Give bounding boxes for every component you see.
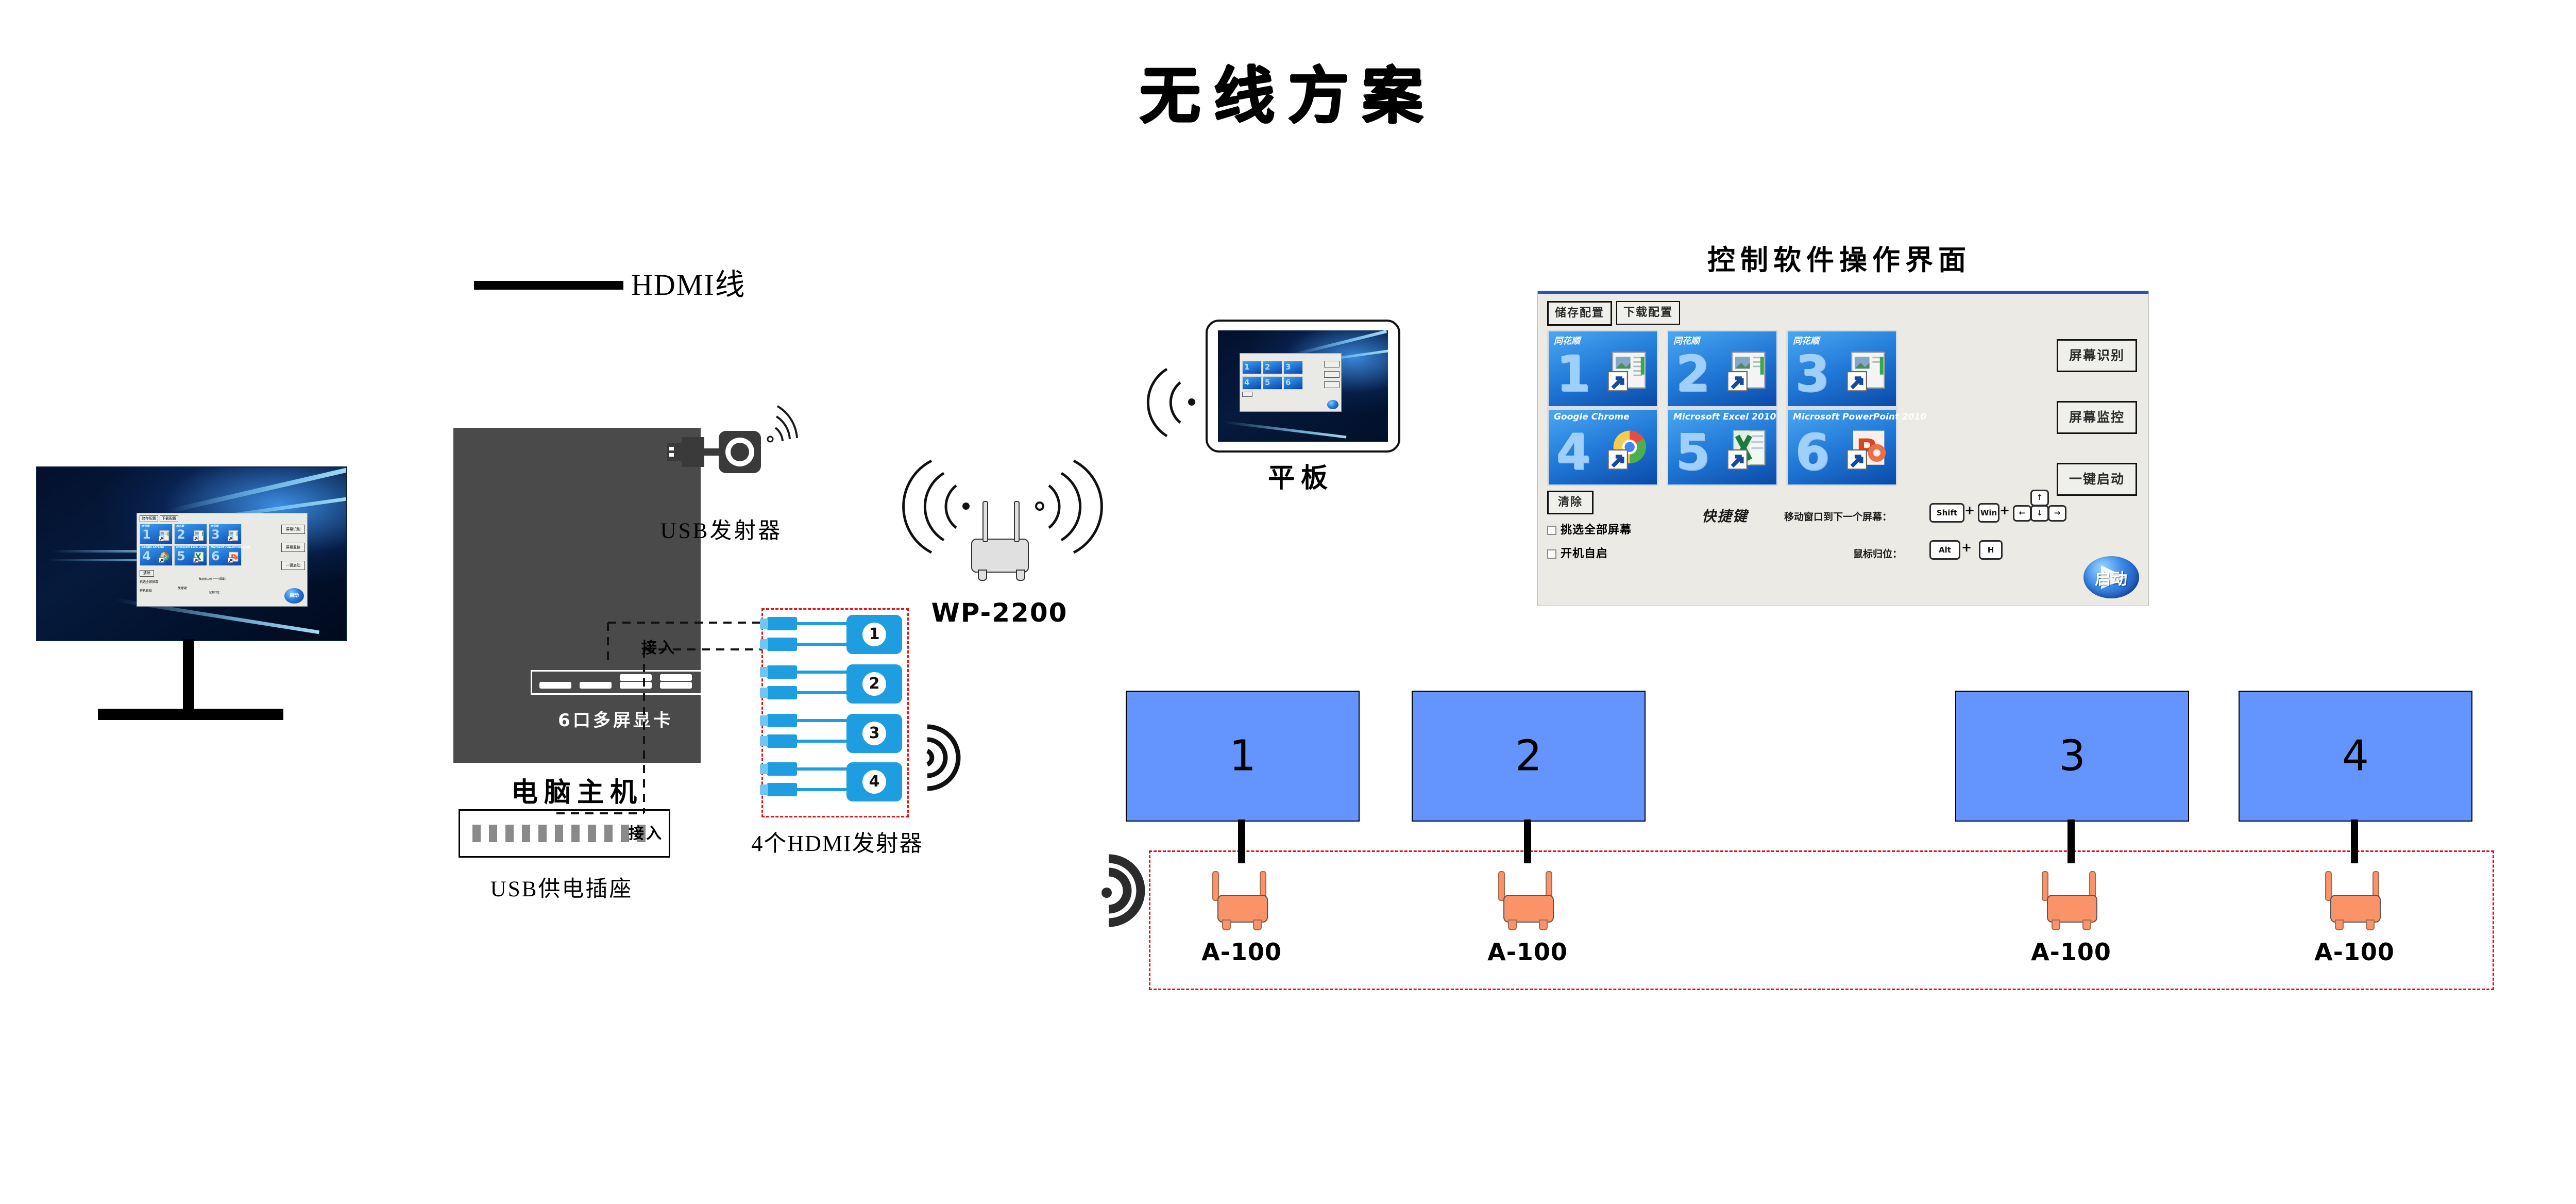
hdmi-transmitter-4: 4 bbox=[846, 762, 902, 801]
hdmi-transmitter-number: 4 bbox=[862, 770, 886, 794]
router-antenna-left bbox=[982, 501, 988, 542]
start-button[interactable]: 启动 bbox=[2083, 556, 2139, 598]
document-shortcut-icon bbox=[157, 529, 171, 542]
tablet-device: 1 2 3 4 5 6 bbox=[1206, 320, 1400, 453]
hdmi-cable-3 bbox=[2067, 820, 2075, 863]
mini-tile-number: 3 bbox=[211, 528, 220, 541]
mini-tile: Microsoft PowerPoint 2010 6 P bbox=[209, 545, 242, 566]
receiver-3-body bbox=[2047, 895, 2097, 923]
checkbox-select-all-screens[interactable]: 挑选全部屏幕 bbox=[1547, 521, 1632, 537]
tablet-tile-number: 3 bbox=[1285, 363, 1291, 371]
wireless-router-wp2200 bbox=[971, 539, 1029, 573]
excel-icon bbox=[192, 550, 205, 564]
wall-display-number: 2 bbox=[1413, 732, 1645, 781]
screen-tile-6[interactable]: Microsoft PowerPoint 2010 6 P bbox=[1786, 408, 1897, 486]
mini-checkbox-select-all: 挑选全部屏幕 bbox=[140, 579, 158, 584]
tablet-tile-number: 2 bbox=[1265, 363, 1270, 371]
save-config-button[interactable]: 储存配置 bbox=[1547, 301, 1612, 326]
receiver-1-label: A-100 bbox=[1175, 938, 1309, 966]
wall-display-number: 4 bbox=[2240, 732, 2471, 781]
screen-tile-caption: Microsoft Excel 2010 bbox=[1673, 412, 1776, 422]
receiver-4-foot-left bbox=[2335, 919, 2344, 930]
usb-power-strip-label: USB供电插座 bbox=[433, 871, 690, 903]
screen-tile-3[interactable]: 同花顺 3 bbox=[1786, 330, 1897, 408]
mini-tile: 同花顺 1 bbox=[140, 524, 173, 544]
load-config-button[interactable]: 下载配置 bbox=[1616, 301, 1680, 325]
checkbox-label: 开机自启 bbox=[1561, 547, 1608, 560]
hdmi-transmitter-number: 1 bbox=[862, 623, 886, 646]
router-foot-left bbox=[978, 570, 987, 581]
screen-tile-number: 3 bbox=[1795, 349, 1829, 398]
router-foot-right bbox=[1016, 570, 1025, 581]
mini-one-key-start-button: 一键启动 bbox=[281, 561, 305, 570]
screen-tile-caption: Microsoft PowerPoint 2010 bbox=[1793, 412, 1926, 422]
monitor-stand-base bbox=[98, 709, 283, 720]
hdmi-cable-4 bbox=[2351, 820, 2358, 863]
hdmi-cable-2 bbox=[1524, 820, 1531, 863]
usb-transmitter bbox=[667, 412, 832, 515]
tablet-screen: 1 2 3 4 5 6 bbox=[1218, 330, 1388, 442]
connect-label-top: 接入 bbox=[641, 635, 676, 658]
reference-monitor-control-window: 储存配置 下载配置 同花顺 1 同花顺 2 同花顺 3 Google Chrom… bbox=[137, 513, 308, 607]
hotkey-mouse-home-label: 鼠标归位： bbox=[1853, 546, 1902, 560]
tablet-tile-number: 5 bbox=[1265, 379, 1270, 387]
chrome-icon bbox=[1602, 426, 1650, 474]
page-title: 无线方案 bbox=[0, 46, 2576, 135]
wall-display-4: 4 bbox=[2239, 691, 2472, 822]
tablet-tile-number: 1 bbox=[1244, 363, 1249, 371]
receiver-2-foot-left bbox=[1508, 919, 1517, 930]
tablet-tile-number: 6 bbox=[1285, 379, 1291, 387]
hdmi-transmitter-number: 2 bbox=[862, 672, 886, 696]
document-shortcut-icon bbox=[1602, 348, 1650, 395]
mini-hotkey-mouse-label: 鼠标归位： bbox=[209, 591, 222, 594]
plus-sign: + bbox=[1964, 503, 1975, 517]
hdmi-cable-legend-line bbox=[474, 281, 623, 290]
tablet-control-window: 1 2 3 4 5 6 bbox=[1240, 353, 1342, 412]
receiver-3-label: A-100 bbox=[2004, 938, 2138, 966]
mini-clear-button: 清除 bbox=[140, 570, 154, 577]
hdmi-transmitter-3: 3 bbox=[846, 714, 902, 753]
mini-save-config-button: 储存配置 bbox=[140, 515, 158, 522]
excel-icon bbox=[1722, 426, 1769, 474]
screen-tile-1[interactable]: 同花顺 1 bbox=[1547, 330, 1658, 408]
connect-label-bottom: 接入 bbox=[629, 821, 664, 843]
key-shift: Shift bbox=[1929, 503, 1964, 523]
powerpoint-icon: P bbox=[226, 550, 240, 564]
mini-tile-number: 5 bbox=[177, 550, 185, 562]
mini-screen-monitor-button: 屏幕监控 bbox=[281, 543, 305, 552]
mini-checkbox-autostart: 开机自启 bbox=[140, 588, 152, 593]
checkbox-label: 挑选全部屏幕 bbox=[1561, 524, 1632, 537]
wall-display-1: 1 bbox=[1126, 691, 1360, 822]
document-shortcut-icon bbox=[1722, 348, 1769, 395]
tablet-label: 平板 bbox=[1216, 456, 1386, 495]
powerpoint-icon: P bbox=[1841, 426, 1889, 474]
key-h: H bbox=[1979, 540, 2003, 560]
hdmi-transmitter-number: 3 bbox=[862, 722, 886, 745]
control-software-panel: 储存配置 下载配置 同花顺 1 同花顺 2 同花顺 3 Google Chrom… bbox=[1538, 291, 2148, 606]
screen-tile-number: 1 bbox=[1556, 349, 1590, 398]
screen-tile-number: 2 bbox=[1675, 349, 1710, 398]
wireless-receivers-group bbox=[1149, 850, 2494, 990]
mini-screen-identify-button: 屏幕识别 bbox=[281, 525, 305, 534]
mini-hotkey-heading: 快捷键 bbox=[177, 586, 187, 590]
wall-display-number: 3 bbox=[1956, 732, 2188, 781]
key-arrow-right: → bbox=[2048, 505, 2066, 522]
receiver-1-foot-left bbox=[1222, 919, 1231, 930]
monitor-stand-neck bbox=[183, 639, 194, 714]
router-antenna-right bbox=[1014, 501, 1020, 542]
receiver-3-foot-right bbox=[2082, 919, 2091, 930]
hdmi-cable-1 bbox=[1238, 820, 1245, 863]
wall-wifi-icon bbox=[1082, 845, 1149, 933]
mini-tile-number: 4 bbox=[142, 550, 151, 562]
router-label: WP-2200 bbox=[922, 598, 1077, 628]
receiver-2-label: A-100 bbox=[1461, 938, 1595, 966]
mini-tile: 同花顺 2 bbox=[174, 524, 207, 544]
receiver-4-foot-right bbox=[2366, 919, 2375, 930]
hdmi-cable-legend-label: HDMI线 bbox=[631, 260, 746, 304]
key-alt: Alt bbox=[1929, 540, 1960, 560]
mini-tile-number: 1 bbox=[142, 528, 151, 541]
mini-tile: Microsoft Excel 2010 5 bbox=[174, 545, 207, 566]
receiver-3-foot-left bbox=[2052, 919, 2060, 930]
screen-tile-2[interactable]: 同花顺 2 bbox=[1667, 330, 1778, 408]
screen-tile-number: 4 bbox=[1556, 427, 1590, 477]
mini-hotkey-move-label: 移动窗口到下一个屏幕： bbox=[199, 577, 227, 581]
mini-tile: 同花顺 3 bbox=[209, 524, 242, 544]
hotkey-move-window-label: 移动窗口到下一个屏幕： bbox=[1784, 509, 1892, 523]
tablet-tile-number: 4 bbox=[1244, 379, 1249, 387]
receiver-4-label: A-100 bbox=[2287, 938, 2421, 966]
key-arrow-down: ↓ bbox=[2030, 505, 2049, 522]
plus-sign: + bbox=[1999, 503, 2010, 517]
hdmi-transmitters-group: 1 2 3 4 bbox=[761, 608, 909, 817]
reference-monitor-screen: 储存配置 下载配置 同花顺 1 同花顺 2 同花顺 3 Google Chrom… bbox=[36, 466, 347, 641]
one-key-start-button[interactable]: 一键启动 bbox=[2057, 463, 2137, 496]
tablet-signal-icon bbox=[1146, 330, 1208, 438]
mini-load-config-button: 下载配置 bbox=[160, 515, 178, 522]
router-signal-right-icon bbox=[1025, 448, 1097, 557]
receiver-4-body bbox=[2330, 895, 2381, 923]
chrome-icon bbox=[157, 550, 171, 564]
key-arrow-left: ← bbox=[2013, 505, 2031, 522]
mini-tile-number: 6 bbox=[211, 550, 220, 562]
screen-tile-number: 6 bbox=[1795, 427, 1829, 477]
mini-tile-number: 2 bbox=[177, 528, 185, 541]
clear-button[interactable]: 清除 bbox=[1547, 491, 1594, 514]
receiver-1-foot-right bbox=[1253, 919, 1262, 930]
key-arrow-up: ↑ bbox=[2030, 490, 2049, 506]
key-windows: Win bbox=[1978, 503, 1999, 523]
screen-tile-4[interactable]: Google Chrome 4 bbox=[1547, 408, 1658, 486]
screen-tile-5[interactable]: Microsoft Excel 2010 5 bbox=[1667, 408, 1778, 486]
document-shortcut-icon bbox=[192, 529, 205, 542]
control-software-title: 控制软件操作界面 bbox=[1530, 237, 2148, 278]
wall-display-number: 1 bbox=[1127, 732, 1359, 781]
checkbox-autostart[interactable]: 开机自启 bbox=[1547, 544, 1608, 561]
hdmi-transmitter-2: 2 bbox=[846, 664, 902, 704]
checkbox-box[interactable] bbox=[1547, 526, 1556, 535]
receiver-1-body bbox=[1217, 895, 1268, 923]
start-button-label: 启动 bbox=[2083, 556, 2139, 598]
plus-sign: + bbox=[1961, 540, 1972, 555]
hotkey-heading: 快捷键 bbox=[1702, 505, 1748, 526]
screen-tile-caption: Google Chrome bbox=[1554, 412, 1630, 422]
mini-start-button: 启动 bbox=[284, 588, 304, 604]
wall-display-2: 2 bbox=[1412, 691, 1646, 822]
hdmi-transmitters-label: 4个HDMI发射器 bbox=[721, 825, 953, 858]
usb-transmitter-label: USB发射器 bbox=[613, 513, 829, 545]
document-shortcut-icon bbox=[226, 529, 240, 542]
screen-monitor-button[interactable]: 屏幕监控 bbox=[2057, 401, 2137, 434]
wall-display-3: 3 bbox=[1955, 691, 2189, 822]
receiver-2-body bbox=[1503, 895, 1554, 923]
screen-identify-button[interactable]: 屏幕识别 bbox=[2057, 339, 2137, 372]
document-shortcut-icon bbox=[1841, 348, 1889, 395]
router-signal-left-icon bbox=[917, 448, 979, 557]
checkbox-box[interactable] bbox=[1547, 549, 1556, 559]
hdmi-transmitter-1: 1 bbox=[846, 615, 902, 654]
wifi-waves-icon bbox=[922, 711, 994, 804]
mini-tile: Google Chrome 4 bbox=[140, 545, 173, 566]
receiver-2-foot-right bbox=[1539, 919, 1548, 930]
screen-tile-number: 5 bbox=[1675, 427, 1710, 477]
